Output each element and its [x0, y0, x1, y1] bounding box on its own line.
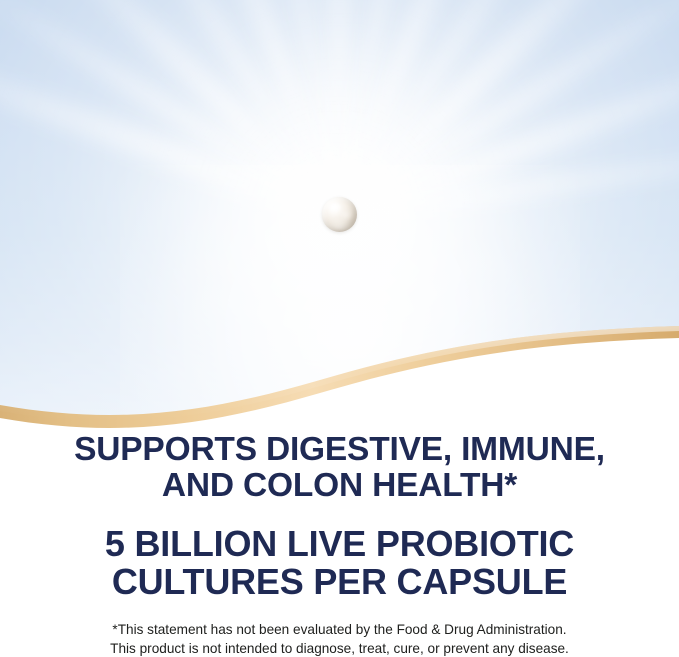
pearl-rim-light — [325, 216, 354, 230]
headline-secondary-line-1: 5 BILLION LIVE PROBIOTIC — [18, 525, 661, 563]
fda-disclaimer-line-2: This product is not intended to diagnose… — [18, 639, 661, 657]
gold-divider-wave — [0, 320, 679, 440]
headline-primary-line-1: SUPPORTS DIGESTIVE, IMMUNE, — [18, 432, 661, 468]
product-marketing-panel: SUPPORTS DIGESTIVE, IMMUNE, AND COLON HE… — [0, 0, 679, 657]
fda-disclaimer: *This statement has not been evaluated b… — [0, 620, 679, 657]
probiotic-pearl-capsule — [322, 197, 357, 232]
headline-secondary: 5 BILLION LIVE PROBIOTIC CULTURES PER CA… — [0, 525, 679, 601]
fda-disclaimer-line-1: *This statement has not been evaluated b… — [18, 620, 661, 639]
headline-primary: SUPPORTS DIGESTIVE, IMMUNE, AND COLON HE… — [0, 432, 679, 504]
pearl-body — [322, 197, 357, 232]
headline-secondary-line-2: CULTURES PER CAPSULE — [18, 563, 661, 601]
marketing-copy-block: SUPPORTS DIGESTIVE, IMMUNE, AND COLON HE… — [0, 432, 679, 657]
headline-primary-line-2: AND COLON HEALTH* — [18, 468, 661, 504]
pearl-highlight-primary — [329, 203, 341, 213]
